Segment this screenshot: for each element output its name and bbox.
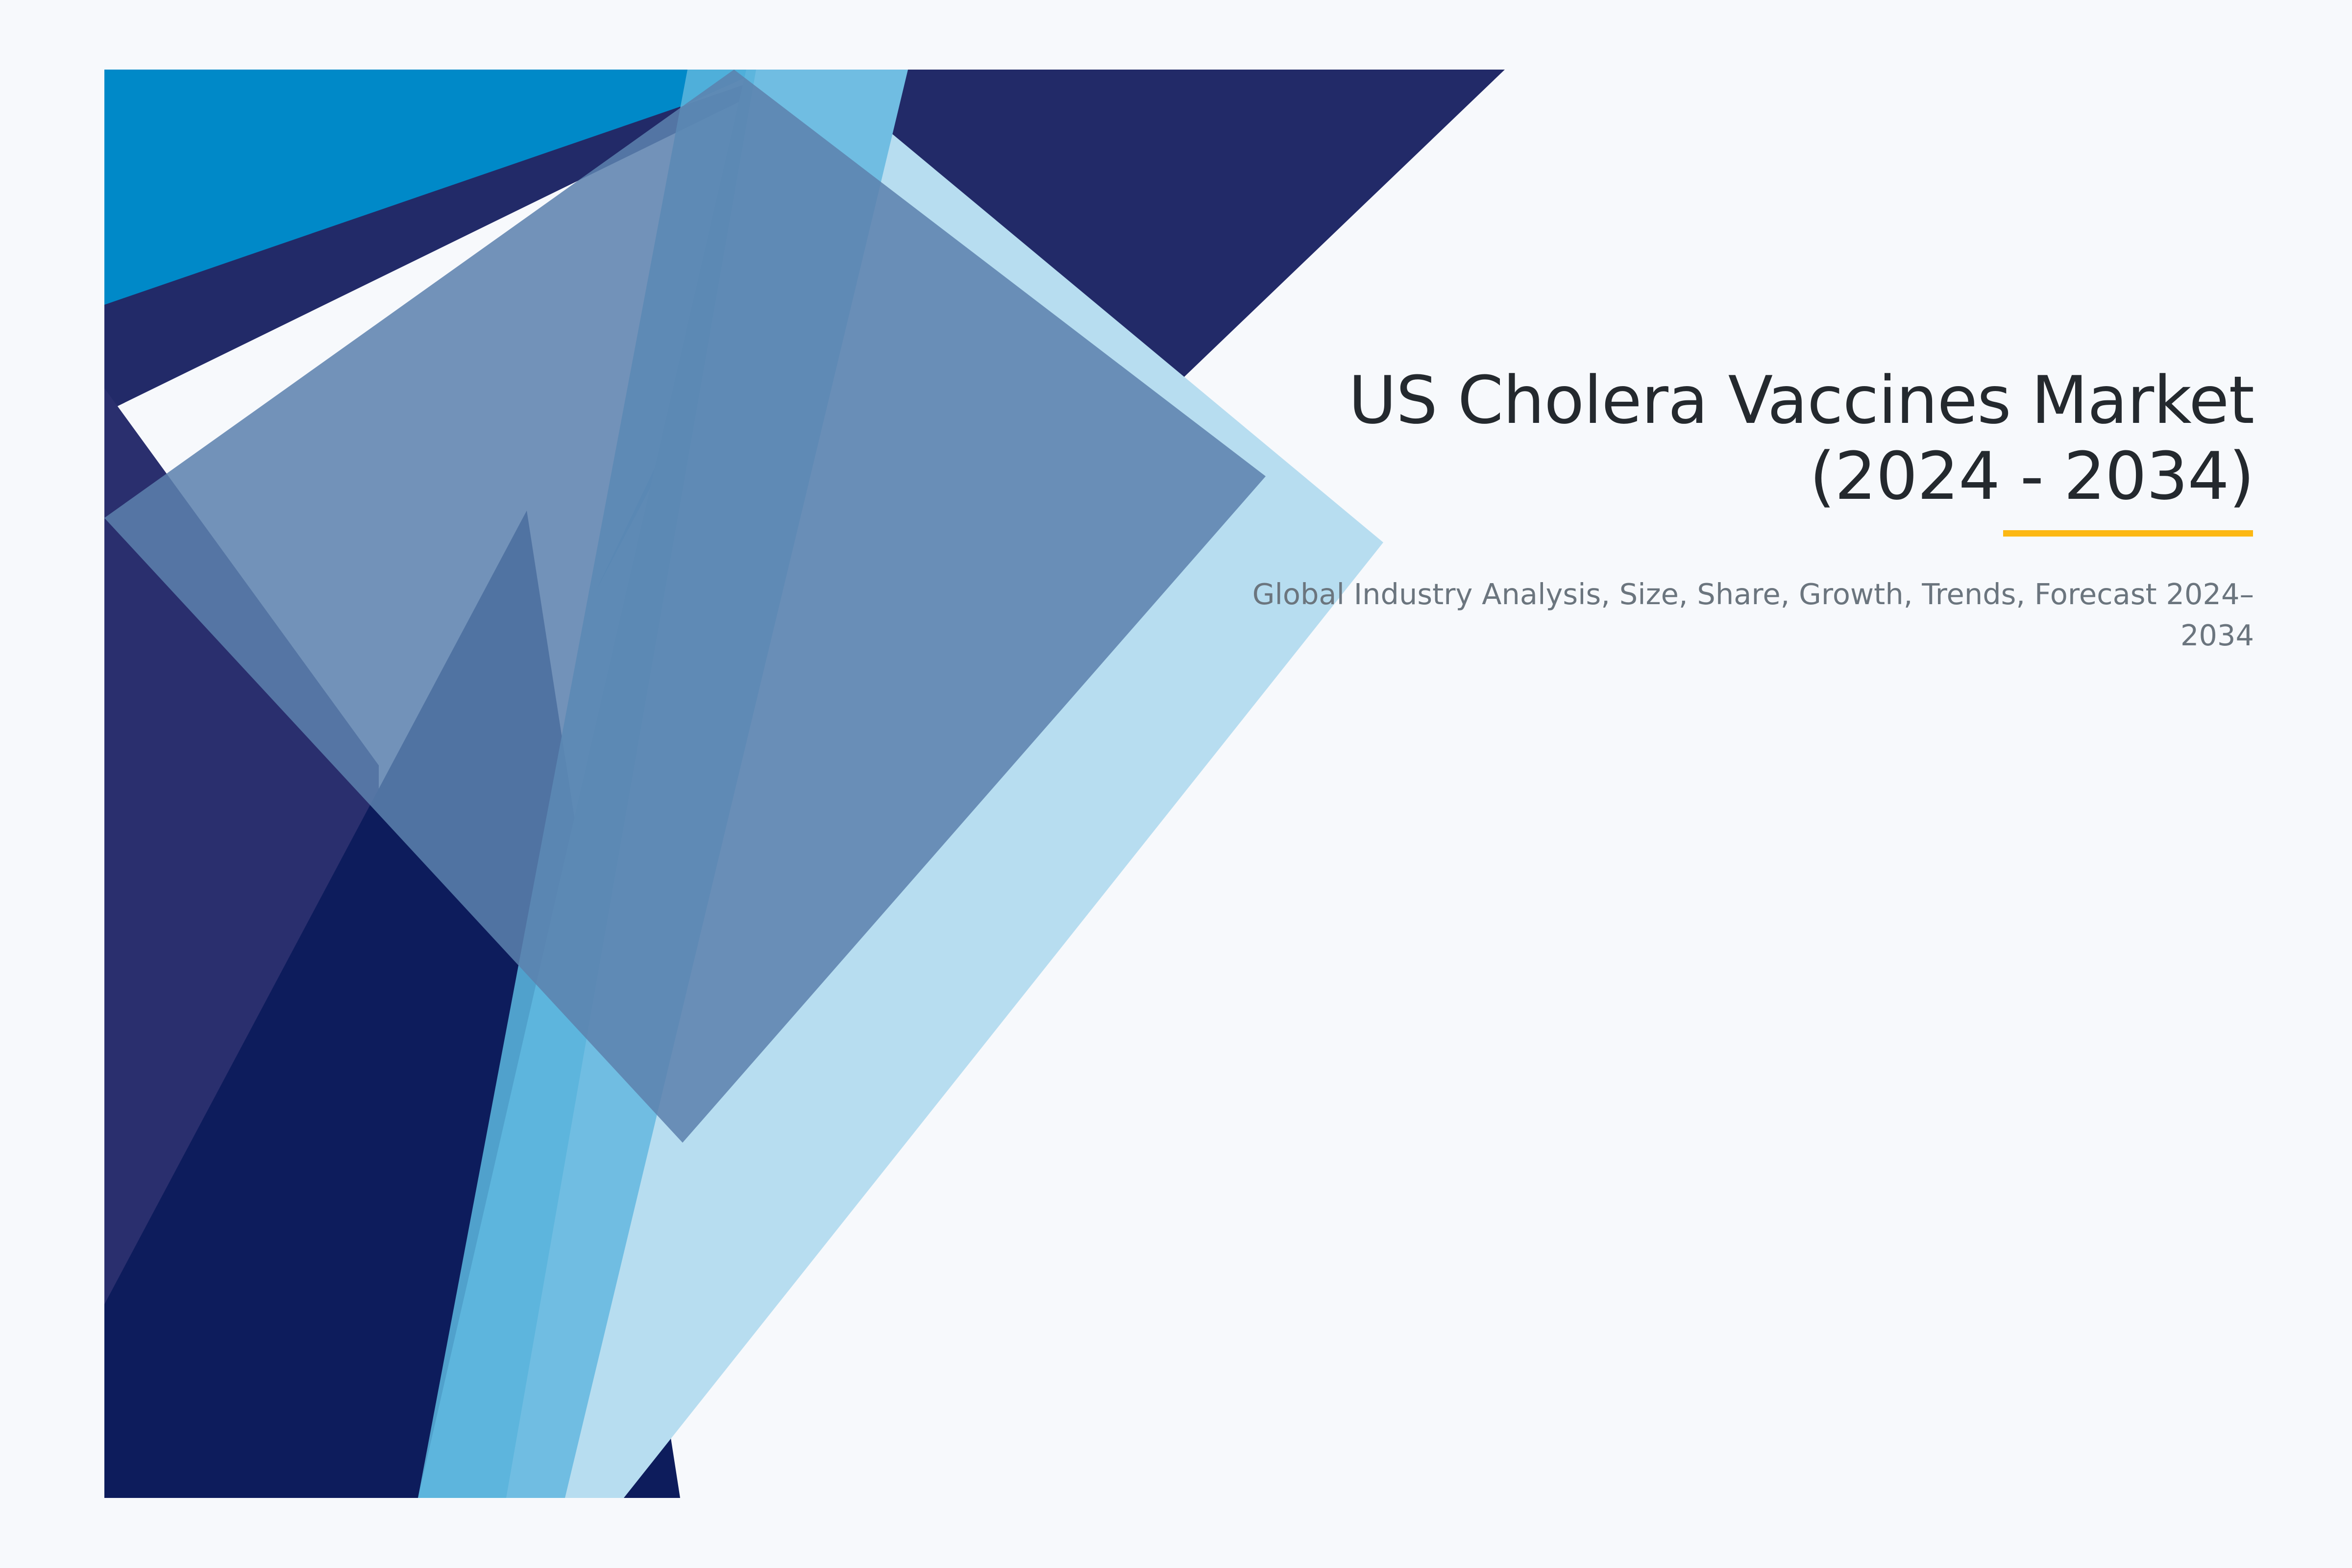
page-title: US Cholera Vaccines Market (2024 - 2034) xyxy=(1225,363,2254,515)
title-accent-underline xyxy=(2003,530,2253,537)
cover-page: US Cholera Vaccines Market (2024 - 2034)… xyxy=(0,0,2352,1568)
abstract-geometric-cover-graphic xyxy=(104,70,1506,1498)
cover-text-block: US Cholera Vaccines Market (2024 - 2034)… xyxy=(1225,363,2254,656)
